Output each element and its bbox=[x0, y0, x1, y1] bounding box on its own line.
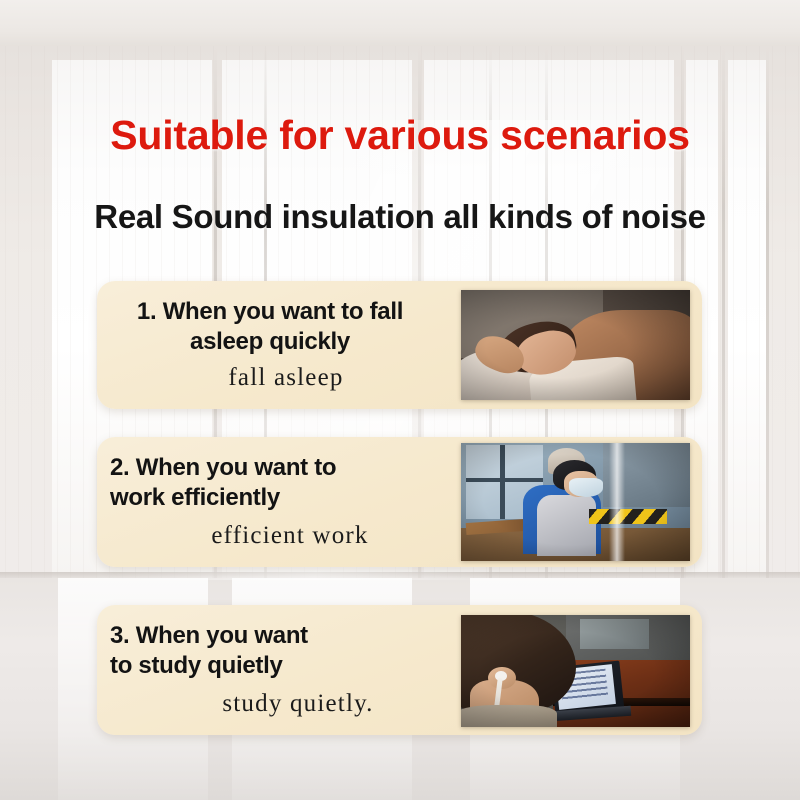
scenario-card-1[interactable]: 1. When you want to fall asleep quickly … bbox=[97, 281, 702, 409]
banner-title: Suitable for various scenarios bbox=[0, 111, 800, 159]
scenario-headline: 2. When you want to work efficiently bbox=[110, 453, 440, 513]
sleeping-woman-photo bbox=[461, 290, 690, 400]
scenario-headline: 3. When you want to study quietly bbox=[110, 621, 430, 681]
banner-subtitle: Real Sound insulation all kinds of noise bbox=[0, 196, 800, 238]
product-marketing-banner: Suitable for various scenarios Real Soun… bbox=[0, 0, 800, 800]
scenario-caption: study quietly. bbox=[153, 689, 443, 719]
scenario-card-2[interactable]: 2. When you want to work efficiently eff… bbox=[97, 437, 702, 567]
scenario-caption: efficient work bbox=[145, 521, 435, 551]
student-studying-laptop-photo bbox=[461, 615, 690, 727]
scenario-headline: 1. When you want to fall asleep quickly bbox=[105, 297, 435, 357]
masked-worker-workshop-photo bbox=[461, 443, 690, 561]
ceiling bbox=[0, 0, 800, 52]
scenario-caption: fall asleep bbox=[141, 363, 431, 393]
scenario-card-3[interactable]: 3. When you want to study quietly study … bbox=[97, 605, 702, 735]
